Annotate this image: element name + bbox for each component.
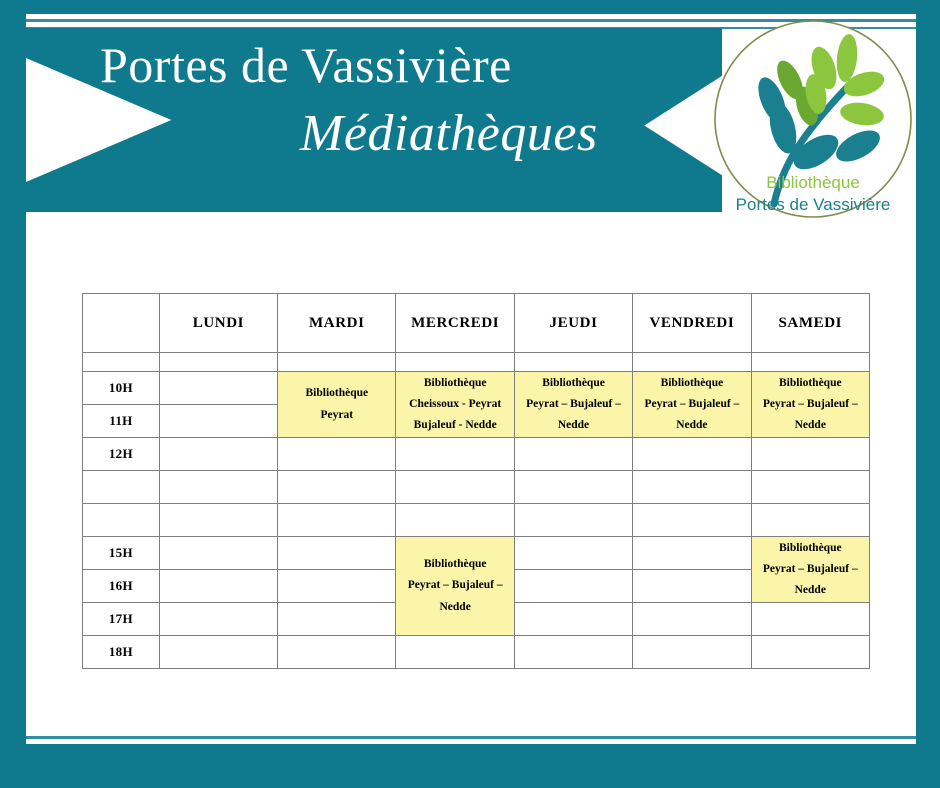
cell-mardi-16h <box>278 570 396 603</box>
cell-mardi-12h <box>278 438 396 471</box>
cell-mercredi-18h <box>396 636 514 669</box>
table-row <box>83 471 870 504</box>
cell-lundi-10h <box>159 372 277 405</box>
frame-right-edge <box>916 0 940 788</box>
slot-mardi-morning: Bibliothèque Peyrat <box>278 372 396 438</box>
time-label-blank-1 <box>83 471 160 504</box>
cell-samedi-18h <box>751 636 869 669</box>
spacer-cell-mardi <box>278 353 396 372</box>
cell-samedi-blank-2 <box>751 504 869 537</box>
cell-mardi-18h <box>278 636 396 669</box>
day-header-lundi: LUNDI <box>159 294 277 353</box>
slot-samedi-afternoon: Bibliothèque Peyrat – Bujaleuf – Nedde <box>751 537 869 603</box>
day-header-jeudi: JEUDI <box>514 294 632 353</box>
table-row: 12H <box>83 438 870 471</box>
cell-jeudi-blank-2 <box>514 504 632 537</box>
cell-mardi-blank-2 <box>278 504 396 537</box>
spacer-cell-jeudi <box>514 353 632 372</box>
table-row: 10H Bibliothèque Peyrat Bibliothèque Che… <box>83 372 870 405</box>
table-row: 18H <box>83 636 870 669</box>
cell-lundi-blank-1 <box>159 471 277 504</box>
cell-mercredi-12h <box>396 438 514 471</box>
cell-jeudi-15h <box>514 537 632 570</box>
cell-mardi-15h <box>278 537 396 570</box>
cell-jeudi-16h <box>514 570 632 603</box>
day-header-mercredi: MERCREDI <box>396 294 514 353</box>
slot-jeudi-morning: Bibliothèque Peyrat – Bujaleuf – Nedde <box>514 372 632 438</box>
cell-mercredi-blank-2 <box>396 504 514 537</box>
cell-lundi-16h <box>159 570 277 603</box>
frame-hairline-left <box>18 22 21 752</box>
time-label-16h: 16H <box>83 570 160 603</box>
cell-jeudi-blank-1 <box>514 471 632 504</box>
cell-lundi-18h <box>159 636 277 669</box>
logo-text-line2: Portes de Vassivière <box>736 195 891 214</box>
frame-hairline-bottom <box>22 736 922 739</box>
opening-hours-table: LUNDI MARDI MERCREDI JEUDI VENDREDI SAME… <box>82 293 870 669</box>
cell-samedi-blank-1 <box>751 471 869 504</box>
cell-samedi-17h <box>751 603 869 636</box>
day-header-vendredi: VENDREDI <box>633 294 751 353</box>
table-corner-cell <box>83 294 160 353</box>
time-label-17h: 17H <box>83 603 160 636</box>
cell-mardi-17h <box>278 603 396 636</box>
table-row <box>83 353 870 372</box>
cell-lundi-12h <box>159 438 277 471</box>
logo-text-line1: Bibliothèque <box>766 173 860 192</box>
table-row: 15H Bibliothèque Peyrat – Bujaleuf – Ned… <box>83 537 870 570</box>
time-label-blank-2 <box>83 504 160 537</box>
cell-vendredi-12h <box>633 438 751 471</box>
time-label-10h: 10H <box>83 372 160 405</box>
cell-jeudi-18h <box>514 636 632 669</box>
slot-mercredi-morning: Bibliothèque Cheissoux - Peyrat Bujaleuf… <box>396 372 514 438</box>
time-label-18h: 18H <box>83 636 160 669</box>
time-label-11h: 11H <box>83 405 160 438</box>
cell-lundi-11h <box>159 405 277 438</box>
slot-mercredi-afternoon: Bibliothèque Peyrat – Bujaleuf – Nedde <box>396 537 514 636</box>
spacer-cell-samedi <box>751 353 869 372</box>
cell-jeudi-17h <box>514 603 632 636</box>
library-logo: Bibliothèque Portes de Vassivière <box>712 18 914 220</box>
cell-mardi-blank-1 <box>278 471 396 504</box>
cell-vendredi-15h <box>633 537 751 570</box>
cell-vendredi-18h <box>633 636 751 669</box>
table-row <box>83 504 870 537</box>
cell-lundi-17h <box>159 603 277 636</box>
frame-left-edge <box>0 0 26 788</box>
table-header-row: LUNDI MARDI MERCREDI JEUDI VENDREDI SAME… <box>83 294 870 353</box>
cell-vendredi-16h <box>633 570 751 603</box>
cell-lundi-blank-2 <box>159 504 277 537</box>
slot-vendredi-morning: Bibliothèque Peyrat – Bujaleuf – Nedde <box>633 372 751 438</box>
spacer-cell-mercredi <box>396 353 514 372</box>
day-header-samedi: SAMEDI <box>751 294 869 353</box>
slot-samedi-morning: Bibliothèque Peyrat – Bujaleuf – Nedde <box>751 372 869 438</box>
cell-samedi-12h <box>751 438 869 471</box>
cell-jeudi-12h <box>514 438 632 471</box>
time-label-15h: 15H <box>83 537 160 570</box>
poster-canvas: Portes de Vassivière Médiathèques <box>0 0 940 788</box>
spacer-cell-lundi <box>159 353 277 372</box>
cell-mercredi-blank-1 <box>396 471 514 504</box>
spacer-cell-vendredi <box>633 353 751 372</box>
cell-vendredi-blank-2 <box>633 504 751 537</box>
frame-bottom-edge <box>0 744 940 788</box>
cell-vendredi-17h <box>633 603 751 636</box>
day-header-mardi: MARDI <box>278 294 396 353</box>
spacer-cell-time <box>83 353 160 372</box>
time-label-12h: 12H <box>83 438 160 471</box>
cell-lundi-15h <box>159 537 277 570</box>
frame-top-edge <box>0 0 940 14</box>
cell-vendredi-blank-1 <box>633 471 751 504</box>
